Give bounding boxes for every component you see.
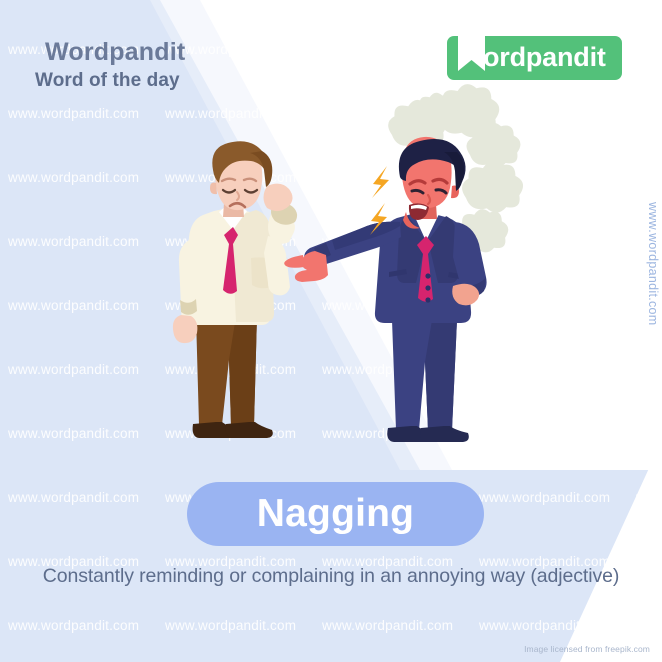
word-label: Nagging	[257, 492, 414, 536]
bookmark-icon	[458, 34, 485, 71]
logo-text: ordpandit	[483, 42, 606, 73]
word-pill: Nagging	[187, 482, 484, 546]
wordpandit-logo[interactable]: ordpandit	[447, 36, 622, 80]
page-title: Wordpandit	[45, 38, 185, 67]
image-credit: Image licensed from freepik.com	[524, 644, 650, 654]
word-definition: Constantly reminding or complaining in a…	[0, 565, 662, 588]
word-of-the-day-card: www.wordpandit.comwww.wordpandit.comwww.…	[0, 0, 662, 662]
sad-employee-figure	[173, 141, 297, 438]
illustration	[0, 0, 662, 662]
watermark-vertical: www.wordpandit.com	[646, 202, 660, 326]
page-subtitle: Word of the day	[35, 70, 180, 92]
